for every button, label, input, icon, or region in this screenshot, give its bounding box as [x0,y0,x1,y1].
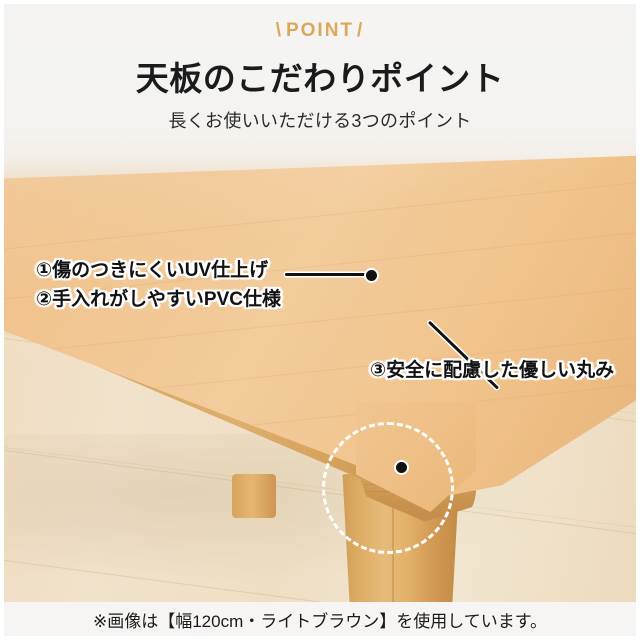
slash-right-icon: / [354,20,367,41]
rounded-corner-highlight-circle [322,422,454,554]
leader-line-1 [285,273,369,276]
annotation-label-3: ③安全に配慮した優しい丸み [370,355,614,382]
page-title: 天板のこだわりポイント [4,52,636,100]
leader-dot-3 [394,460,409,475]
slash-left-icon: \ [273,20,286,41]
infographic-inner: \POINT/ 天板のこだわりポイント 長くお使いいただける3つのポイント ①傷… [4,4,636,636]
annotation-label-1: ①傷のつきにくいUV仕上げ [36,255,268,282]
footer-bar: ※画像は【幅120cm・ライトブラウン】を使用しています。 [4,602,636,636]
point-kicker-label: POINT [286,20,354,41]
footer-note: ※画像は【幅120cm・ライトブラウン】を使用しています。 [93,607,547,632]
page-subtitle: 長くお使いいただける3つのポイント [4,107,636,133]
point-kicker: \POINT/ [4,20,636,42]
leader-dot-1 [364,268,379,283]
table-leg-back [232,474,276,518]
annotation-label-2: ②手入れがしやすいPVC仕様 [36,284,281,311]
infographic-frame: \POINT/ 天板のこだわりポイント 長くお使いいただける3つのポイント ①傷… [0,0,640,640]
